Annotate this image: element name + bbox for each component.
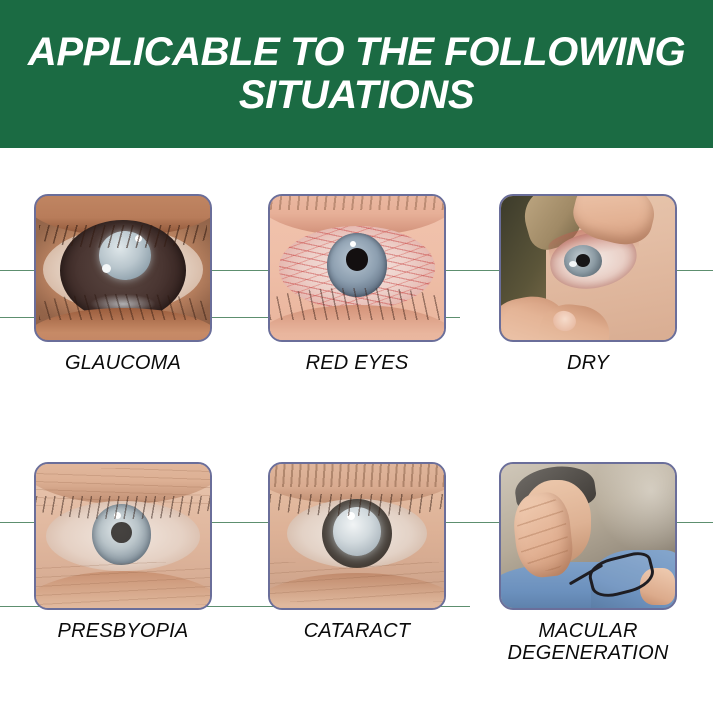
presbyopia-eye-photo [34,462,212,610]
condition-label-red-eyes: RED EYES [268,352,446,374]
glaucoma-eye-illustration [36,196,210,340]
page-title: APPLICABLE TO THE FOLLOWING SITUATIONS [28,31,685,117]
condition-label-glaucoma: GLAUCOMA [34,352,212,374]
cataract-eye-photo [268,462,446,610]
condition-card-glaucoma[interactable]: GLAUCOMA [34,194,212,374]
condition-card-macular-degeneration[interactable]: MACULAR DEGENERATION [499,462,677,665]
condition-label-dry: DRY [499,352,677,374]
red-eye-photo [268,194,446,342]
condition-card-red-eyes[interactable]: RED EYES [268,194,446,374]
macular-degeneration-photo [499,462,677,610]
red-eye-illustration [270,196,444,340]
condition-card-cataract[interactable]: CATARACT [268,462,446,642]
cataract-eye-illustration [270,464,444,608]
header-banner: APPLICABLE TO THE FOLLOWING SITUATIONS [0,0,713,148]
dry-eye-illustration [501,196,675,340]
condition-card-dry[interactable]: DRY [499,194,677,374]
condition-label-macular-degeneration: MACULAR DEGENERATION [481,620,695,665]
glaucoma-eye-photo [34,194,212,342]
infographic-page: APPLICABLE TO THE FOLLOWING SITUATIONS [0,0,713,713]
condition-label-cataract: CATARACT [268,620,446,642]
dry-eye-photo [499,194,677,342]
condition-card-presbyopia[interactable]: PRESBYOPIA [34,462,212,642]
condition-label-presbyopia: PRESBYOPIA [34,620,212,642]
macular-degeneration-illustration [501,464,675,608]
presbyopia-eye-illustration [36,464,210,608]
condition-card-grid: GLAUCOMA RED EYES [0,148,713,713]
